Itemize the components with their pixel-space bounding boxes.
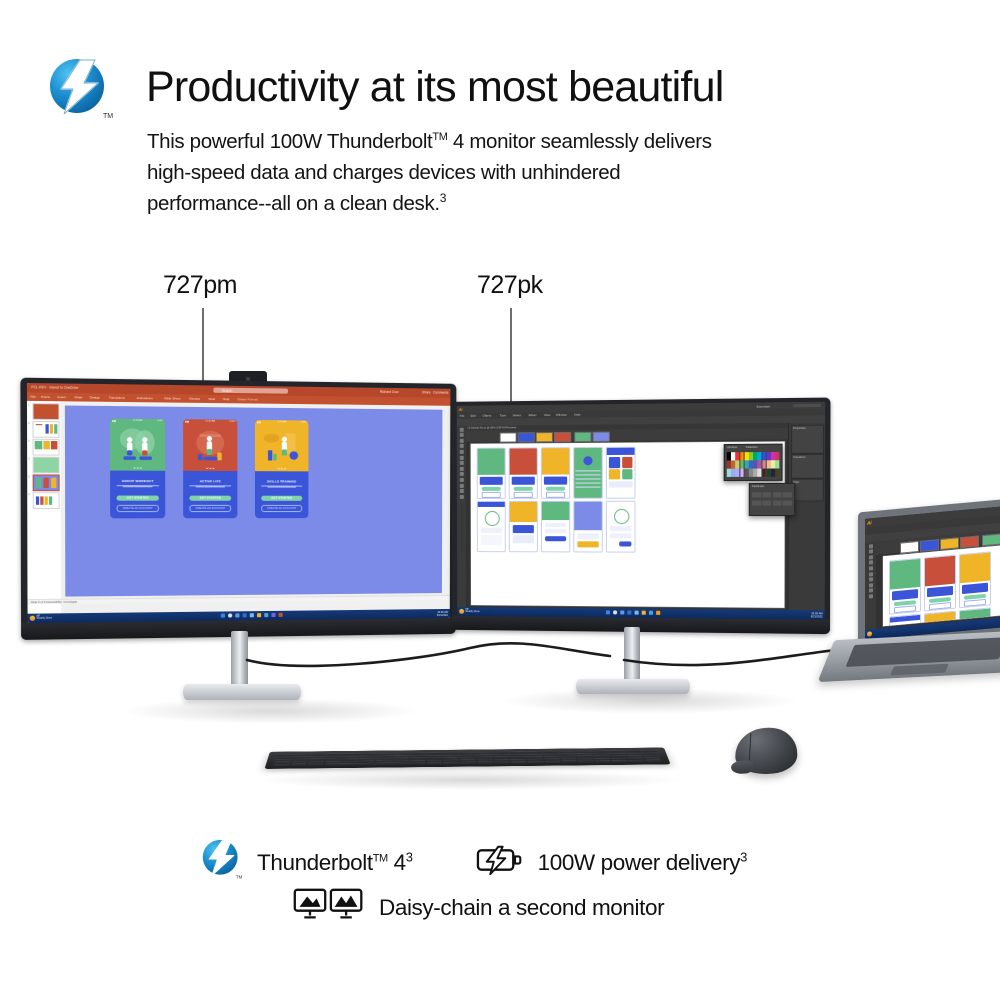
phone-body-text xyxy=(261,484,302,488)
taskbar-explorer-icon[interactable] xyxy=(627,611,631,615)
panel-title-swatches: Swatches xyxy=(746,446,758,449)
phone-secondary-button[interactable]: CREATE AN ACCOUNT xyxy=(117,505,159,513)
phone-status-time: 10:30 AM xyxy=(277,421,287,423)
slide-number: 1 xyxy=(28,404,30,407)
app-screen-card[interactable] xyxy=(541,447,570,499)
slide-number: 3 xyxy=(28,440,30,443)
left-monitor: PCL-REV - Saved to OneDrive Search Richa… xyxy=(36,384,456,634)
phone-hero-illustration: ▮▮▮ 10:30 AM 100% xyxy=(110,419,165,471)
pen-tool-icon[interactable] xyxy=(459,439,463,443)
brand-tagline: Smartly Done xyxy=(36,617,52,620)
powerpoint-search-placeholder: Search xyxy=(222,388,233,392)
menu-select[interactable]: Select xyxy=(513,413,521,417)
app-screen-card[interactable] xyxy=(573,447,603,499)
swatch-yellow[interactable] xyxy=(940,537,959,550)
ribbon-tab-design[interactable]: Design xyxy=(90,395,100,399)
laptop-artboard[interactable] xyxy=(883,544,1000,626)
powerpoint-share-button[interactable]: Share xyxy=(422,390,430,394)
artboard-tool-icon[interactable] xyxy=(459,495,463,499)
callout-label-left: 727pm xyxy=(163,271,237,300)
app-screen-card[interactable] xyxy=(509,501,538,552)
carousel-dots[interactable] xyxy=(183,467,237,469)
feature-daisy-chain: Daisy-chain a second monitor xyxy=(292,886,664,929)
ribbon-tab-animations[interactable]: Animations xyxy=(137,396,153,400)
subheadline: This powerful 100W ThunderboltTM 4 monit… xyxy=(147,126,947,219)
right-monitor-neck xyxy=(624,627,640,683)
phone-status-time: 10:30 AM xyxy=(205,420,215,422)
slide-thumbnail[interactable] xyxy=(32,421,59,438)
svg-text:TM: TM xyxy=(103,113,113,120)
laptop-screen: Ai xyxy=(865,505,1000,640)
color-swatch-grid[interactable] xyxy=(727,452,780,477)
phone-primary-button[interactable]: GET STARTED xyxy=(261,496,302,502)
taskbar-store-icon[interactable] xyxy=(271,613,275,617)
taskbar-brand xyxy=(867,631,872,636)
taskbar-search-icon[interactable] xyxy=(613,611,617,615)
pathfinder-floating-panel[interactable]: Pathfinder xyxy=(749,483,795,516)
taskbar-explorer-icon[interactable] xyxy=(243,614,247,618)
ribbon-tab-shape-format[interactable]: Shape Format xyxy=(237,397,257,401)
menu-edit[interactable]: Edit xyxy=(471,414,476,418)
direct-selection-tool-icon[interactable] xyxy=(459,433,463,437)
carousel-dots[interactable] xyxy=(110,467,165,469)
slide-number: 4 xyxy=(28,458,30,461)
app-screen-card[interactable] xyxy=(606,501,636,553)
phone-body-text xyxy=(116,484,158,488)
taskbar-illustrator-icon[interactable] xyxy=(656,611,660,615)
laptop: Ai xyxy=(820,505,1000,725)
taskbar-search-icon[interactable] xyxy=(228,614,232,618)
phone-status-bar: ▮▮▮ 10:30 AM 100% xyxy=(185,420,235,423)
app-screen-card[interactable] xyxy=(924,555,956,612)
ribbon-tab-slideshow[interactable]: Slide Show xyxy=(164,396,180,400)
trademark-mark: TM xyxy=(432,131,447,143)
document-tab-label: UI-Mobile-Kit.ai @ 66% (CMYK/Preview) xyxy=(468,426,517,429)
ribbon-tab-file[interactable]: File xyxy=(30,395,35,399)
transform-panel[interactable]: Transform xyxy=(790,454,823,479)
illustrator-swatch-strip[interactable] xyxy=(466,428,825,442)
panel-title-libraries: Libraries xyxy=(727,446,737,449)
feature-label-daisy-chain: Daisy-chain a second monitor xyxy=(379,895,664,921)
slide-number: 6 xyxy=(28,493,30,496)
phone-status-time: 10:30 AM xyxy=(133,420,143,422)
rotate-tool-icon[interactable] xyxy=(459,467,463,471)
feature-list: TM ThunderboltTM 43 100W power delivery3 xyxy=(0,824,1000,954)
slide-thumbnail[interactable] xyxy=(33,439,60,456)
phone-hero-illustration: ▮▮▮ 10:30 AM 100% xyxy=(255,420,308,471)
phone-primary-button[interactable]: GET STARTED xyxy=(116,496,158,502)
feature-label-power-delivery: 100W power delivery3 xyxy=(538,850,747,876)
phone-secondary-button[interactable]: CREATE AN ACCOUNT xyxy=(189,505,231,513)
powerpoint-body: 1 2 xyxy=(27,401,450,614)
brush-tool-icon[interactable] xyxy=(459,455,463,459)
laptop-keyboard[interactable] xyxy=(846,637,1000,667)
illustrator-logo-icon: Ai xyxy=(867,520,871,526)
swatch-periwinkle[interactable] xyxy=(593,432,610,442)
slide-number: 2 xyxy=(28,422,30,425)
eyedropper-tool-icon[interactable] xyxy=(459,483,463,487)
keyboard-keys[interactable] xyxy=(274,750,662,766)
phone-status-bar: ▮▮▮ 10:30 AM 100% xyxy=(112,420,163,423)
daisy-chain-monitors-icon xyxy=(292,886,366,929)
feature-power-delivery: 100W power delivery3 xyxy=(475,845,747,880)
app-screen-card[interactable] xyxy=(477,501,506,552)
menu-effect[interactable]: Effect xyxy=(529,413,537,417)
taskbar-edge-icon[interactable] xyxy=(250,614,254,618)
swatch-white[interactable] xyxy=(500,432,517,442)
keyboard-body[interactable] xyxy=(265,748,671,769)
panel-title: Properties xyxy=(793,427,806,430)
right-monitor: Ai Essentials File Edit Object Type Sele… xyxy=(452,402,820,630)
laptop-illustrator-window: Ai xyxy=(865,505,1000,640)
clock-date: 8/21/2022 xyxy=(437,614,448,617)
ribbon-tab-view[interactable]: View xyxy=(208,397,215,401)
illustrator-window: Ai Essentials File Edit Object Type Sele… xyxy=(457,402,825,620)
panel-title-pathfinder: Pathfinder xyxy=(752,485,764,488)
subhead-line1-b: 4 monitor seamlessly delivers xyxy=(448,130,712,153)
swatch-yellow[interactable] xyxy=(536,432,553,442)
subhead-line2: high-speed data and charges devices with… xyxy=(147,161,620,184)
slide-thumbnail-panel[interactable]: 1 2 xyxy=(27,401,62,614)
swatches-floating-panel[interactable]: Libraries Swatches xyxy=(724,444,783,481)
slide-number: 5 xyxy=(28,475,30,478)
svg-text:TM: TM xyxy=(236,874,243,879)
taskbar-powerpoint-icon[interactable] xyxy=(279,613,283,617)
slide-thumbnail[interactable] xyxy=(33,457,60,474)
right-monitor-screen: Ai Essentials File Edit Object Type Sele… xyxy=(457,402,825,620)
panel-title: Transform xyxy=(793,456,805,459)
phone-mockup: ▮▮▮ 10:30 AM 100% xyxy=(255,420,308,518)
thunderbolt-logo-icon: TM xyxy=(46,56,114,124)
menu-file[interactable]: File xyxy=(460,414,465,418)
taskbar-teams-icon[interactable] xyxy=(264,613,268,617)
align-panel[interactable]: Align xyxy=(790,479,823,502)
swatch-blue[interactable] xyxy=(920,539,939,552)
subhead-line1-a: This powerful 100W Thunderbolt xyxy=(147,130,432,153)
carousel-dots[interactable] xyxy=(255,467,308,469)
right-monitor-base xyxy=(576,679,690,694)
illustrator-search-field[interactable] xyxy=(793,404,821,408)
taskbar-edge-icon[interactable] xyxy=(635,611,639,615)
swatch-green[interactable] xyxy=(574,432,591,442)
ribbon-tab-help[interactable]: Help xyxy=(223,397,230,401)
laptop-trackpad[interactable] xyxy=(890,664,949,676)
phone-body-text xyxy=(189,484,231,488)
product-scene: PCL-REV - Saved to OneDrive Search Richa… xyxy=(0,360,1000,810)
powerpoint-titlebar-text: PCL-REV - Saved to OneDrive xyxy=(31,385,78,390)
workspace-switcher[interactable]: Essentials xyxy=(757,404,770,408)
illustration-skills-training xyxy=(255,426,308,469)
product-marketing-slide: TM Productivity at its most beautiful Th… xyxy=(0,0,1000,1000)
slide-thumbnail-selected[interactable] xyxy=(33,474,60,491)
ribbon-tab-insert[interactable]: Insert xyxy=(57,395,65,399)
ribbon-tab-transitions[interactable]: Transitions xyxy=(109,396,125,400)
swatch-red[interactable] xyxy=(554,432,571,442)
laptop-lid: Ai xyxy=(858,497,1000,652)
right-monitor-chin xyxy=(452,616,830,634)
phone-secondary-button[interactable]: CREATE AN ACCOUNT xyxy=(261,505,302,513)
taskbar-folder-icon[interactable] xyxy=(642,611,646,615)
properties-panel[interactable]: Properties xyxy=(791,425,824,454)
ribbon-tab-draw[interactable]: Draw xyxy=(75,395,83,399)
phone-status-battery: 100% xyxy=(157,420,163,422)
keyboard[interactable] xyxy=(265,748,671,769)
phone-mockup: ▮▮▮ 10:30 AM 100% xyxy=(110,419,165,519)
mouse-thumb-rest[interactable] xyxy=(731,760,754,775)
left-monitor-neck xyxy=(231,631,248,689)
page-title: Productivity at its most beautiful xyxy=(146,62,966,112)
taskbar-taskview-icon[interactable] xyxy=(235,614,239,618)
battery-bolt-icon xyxy=(475,845,525,880)
phone-status-battery: 100% xyxy=(301,421,307,423)
selection-tool-icon[interactable] xyxy=(459,427,463,431)
menu-object[interactable]: Object xyxy=(483,414,492,418)
footnote-marker: 3 xyxy=(440,191,446,205)
phone-primary-button[interactable]: GET STARTED xyxy=(189,496,231,502)
shape-tool-icon[interactable] xyxy=(459,450,463,454)
taskbar-start-icon[interactable] xyxy=(606,611,610,615)
taskbar-start-icon[interactable] xyxy=(221,614,225,618)
taskbar-teams-icon[interactable] xyxy=(649,611,653,615)
app-screen-card[interactable] xyxy=(509,447,538,499)
shadow-keyboard xyxy=(255,770,685,790)
thunderbolt-logo-icon: TM xyxy=(200,838,244,887)
app-screen-card[interactable] xyxy=(541,501,570,553)
mouse[interactable] xyxy=(733,726,798,776)
shadow-left-monitor xyxy=(120,698,420,724)
phone-hero-illustration: ▮▮▮ 10:30 AM 100% xyxy=(183,419,237,471)
powerpoint-window: PCL-REV - Saved to OneDrive Search Richa… xyxy=(27,383,450,623)
hp-logo-icon xyxy=(867,631,872,636)
feature-label-thunderbolt: ThunderboltTM 43 xyxy=(257,850,413,876)
powerpoint-comments-button[interactable]: Comments xyxy=(433,391,448,395)
swatch-white[interactable] xyxy=(900,541,919,554)
illustrator-toolbar[interactable] xyxy=(457,426,466,609)
menu-window[interactable]: Window xyxy=(556,413,567,417)
laptop-toolbar[interactable] xyxy=(865,542,876,631)
header: TM Productivity at its most beautiful Th… xyxy=(0,0,1000,240)
slide-thumbnail[interactable] xyxy=(32,403,59,420)
subhead-line3: performance--all on a clean desk. xyxy=(147,192,440,215)
gradient-tool-icon[interactable] xyxy=(459,478,463,482)
taskbar-clock[interactable]: 10:30 AM 8/21/2022 xyxy=(437,611,448,617)
app-screen-card[interactable] xyxy=(573,501,603,553)
slide-content[interactable]: ▮▮▮ 10:30 AM 100% xyxy=(65,406,443,597)
cable-between-monitors xyxy=(247,643,610,666)
menu-view[interactable]: View xyxy=(544,413,551,417)
phone-status-battery: 100% xyxy=(229,421,235,423)
left-monitor-screen: PCL-REV - Saved to OneDrive Search Richa… xyxy=(27,383,450,623)
zoom-tool-icon[interactable] xyxy=(459,489,463,493)
app-screen-card[interactable] xyxy=(889,558,921,615)
mouse-button-split[interactable] xyxy=(749,733,752,760)
hp-logo-icon xyxy=(459,609,464,614)
phone-heading: ACTIVE LIFE xyxy=(183,479,237,483)
ribbon-tab-home[interactable]: Home xyxy=(41,395,50,399)
phone-status-bar: ▮▮▮ 10:30 AM 100% xyxy=(257,421,306,424)
laptop-base xyxy=(817,630,1000,682)
taskbar-brand: HP Smartly Done xyxy=(30,615,52,621)
slide-canvas[interactable]: ▮▮▮ 10:30 AM 100% xyxy=(61,401,451,613)
slide-thumbnail[interactable] xyxy=(33,492,60,509)
phone-heading: SKILLS TRAINING xyxy=(255,479,308,483)
type-tool-icon[interactable] xyxy=(459,444,463,448)
app-screen-card[interactable] xyxy=(477,448,506,499)
status-bar-text: Slide 5 of 6 Accessibility: Investigate xyxy=(31,600,78,604)
app-screen-card[interactable] xyxy=(606,447,636,499)
illustrator-logo-icon: Ai xyxy=(459,407,462,412)
left-monitor-base xyxy=(183,684,301,700)
app-screen-card[interactable] xyxy=(959,551,991,608)
taskbar-folder-icon[interactable] xyxy=(257,613,261,617)
illustration-group-workout xyxy=(110,425,165,469)
feature-thunderbolt: TM ThunderboltTM 43 xyxy=(200,838,413,887)
scale-tool-icon[interactable] xyxy=(459,472,463,476)
phone-mockup: ▮▮▮ 10:30 AM 100% xyxy=(183,419,237,518)
menu-type[interactable]: Type xyxy=(500,414,507,418)
taskbar-taskview-icon[interactable] xyxy=(620,611,624,615)
ribbon-tab-review[interactable]: Review xyxy=(189,397,200,401)
eraser-tool-icon[interactable] xyxy=(459,461,463,465)
powerpoint-account-name[interactable]: Richard Cruz xyxy=(380,390,399,394)
swatch-blue[interactable] xyxy=(518,432,535,442)
illustration-active-life xyxy=(183,425,237,469)
menu-help[interactable]: Help xyxy=(574,413,580,417)
taskbar-brand: HP Smartly Done xyxy=(459,609,480,615)
callout-label-right: 727pk xyxy=(477,271,543,300)
swatch-red[interactable] xyxy=(960,535,979,548)
brand-tagline: Smartly Done xyxy=(465,610,479,613)
powerpoint-search-box[interactable]: Search xyxy=(213,387,288,394)
swatch-green[interactable] xyxy=(982,533,1000,546)
hp-logo-icon xyxy=(30,616,35,621)
phone-heading: GROUP WORKOUT xyxy=(110,479,165,483)
